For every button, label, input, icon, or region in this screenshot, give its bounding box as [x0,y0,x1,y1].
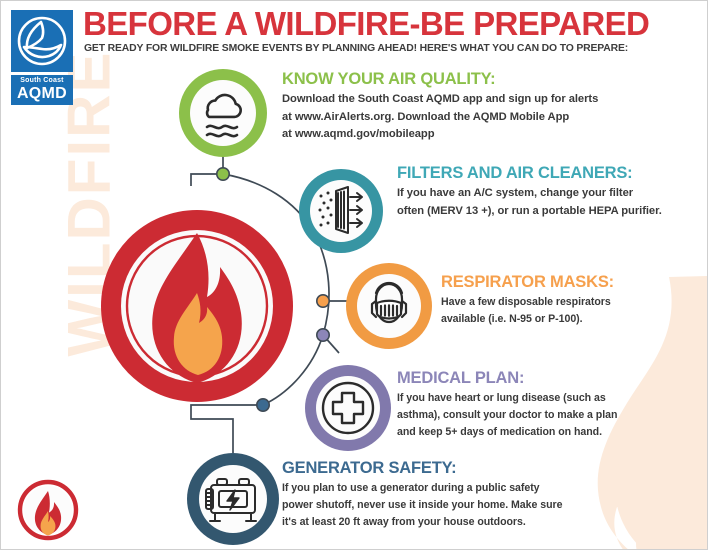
icon-circle-respirator-masks [346,263,432,349]
icon-circle-filters-and-air-cleaners [299,169,383,253]
page-title: BEFORE A WILDFIRE-BE PREPARED [83,7,649,41]
air-filter-icon [336,187,362,233]
section-body-filters-line-2: often (MERV 13 +), or run a portable HEP… [397,203,708,221]
section-generator-safety: GENERATOR SAFETY: If you plan to use a g… [282,459,662,531]
section-body-air-quality-line-3: at www.aqmd.gov/mobileapp [282,126,702,144]
generator-icon [206,479,256,521]
section-body-generator-line-1: If you plan to use a generator during a … [282,480,662,497]
section-filters-and-air-cleaners: FILTERS AND AIR CLEANERS: If you have an… [397,164,708,220]
section-heading-filters: FILTERS AND AIR CLEANERS: [397,164,708,182]
logo-org-small: South Coast [11,77,73,85]
section-know-your-air-quality: KNOW YOUR AIR QUALITY: Download the Sout… [282,70,702,144]
section-respirator-masks: RESPIRATOR MASKS: Have a few disposable … [441,273,708,328]
section-medical-plan: MEDICAL PLAN: If you have heart or lung … [397,369,708,441]
connector-nodes [217,168,329,411]
air-particles-icon [319,192,333,227]
sailboat-logo-icon [11,10,73,72]
section-body-filters-line-1: If you have an A/C system, change your f… [397,185,708,203]
icon-circle-medical-plan [305,365,391,451]
section-body-air-quality-line-1: Download the South Coast AQMD app and si… [282,91,702,109]
section-body-generator-line-2: power shutoff, never use it inside your … [282,497,662,514]
section-body-medical-line-2: asthma), consult your doctor to make a p… [397,407,708,424]
section-heading-generator: GENERATOR SAFETY: [282,459,662,477]
section-body-generator-line-3: it's at least 20 ft away from your house… [282,514,662,531]
cloud-wind-icon [207,95,241,136]
face-mask-icon [372,283,406,322]
fire-badge-icon [17,479,79,541]
section-body-respirator-line-1: Have a few disposable respirators [441,294,708,311]
section-body-air-quality-line-2: at www.AirAlerts.org. Download the AQMD … [282,109,702,127]
section-heading-medical-plan: MEDICAL PLAN: [397,369,708,387]
section-body-medical-line-3: and keep 5+ days of medication on hand. [397,424,708,441]
aqmd-logo-wordmark: South Coast AQMD [11,75,73,105]
page-subtitle: GET READY FOR WILDFIRE SMOKE EVENTS BY P… [84,43,628,54]
section-heading-respirator: RESPIRATOR MASKS: [441,273,708,291]
icon-circle-know-your-air-quality [179,69,267,157]
logo-org-large: AQMD [11,85,73,102]
icon-circle-generator-safety [187,453,279,545]
aqmd-logo: South Coast AQMD [11,10,73,105]
section-body-respirator-line-2: available (i.e. N-95 or P-100). [441,311,708,328]
medical-cross-icon [323,383,373,433]
section-heading-air-quality: KNOW YOUR AIR QUALITY: [282,70,702,88]
central-fire-emblem [101,210,293,402]
section-body-medical-line-1: If you have heart or lung disease (such … [397,390,708,407]
infographic-page: WILDFIRE South Coast AQMD BEFORE A WILDF… [0,0,708,550]
